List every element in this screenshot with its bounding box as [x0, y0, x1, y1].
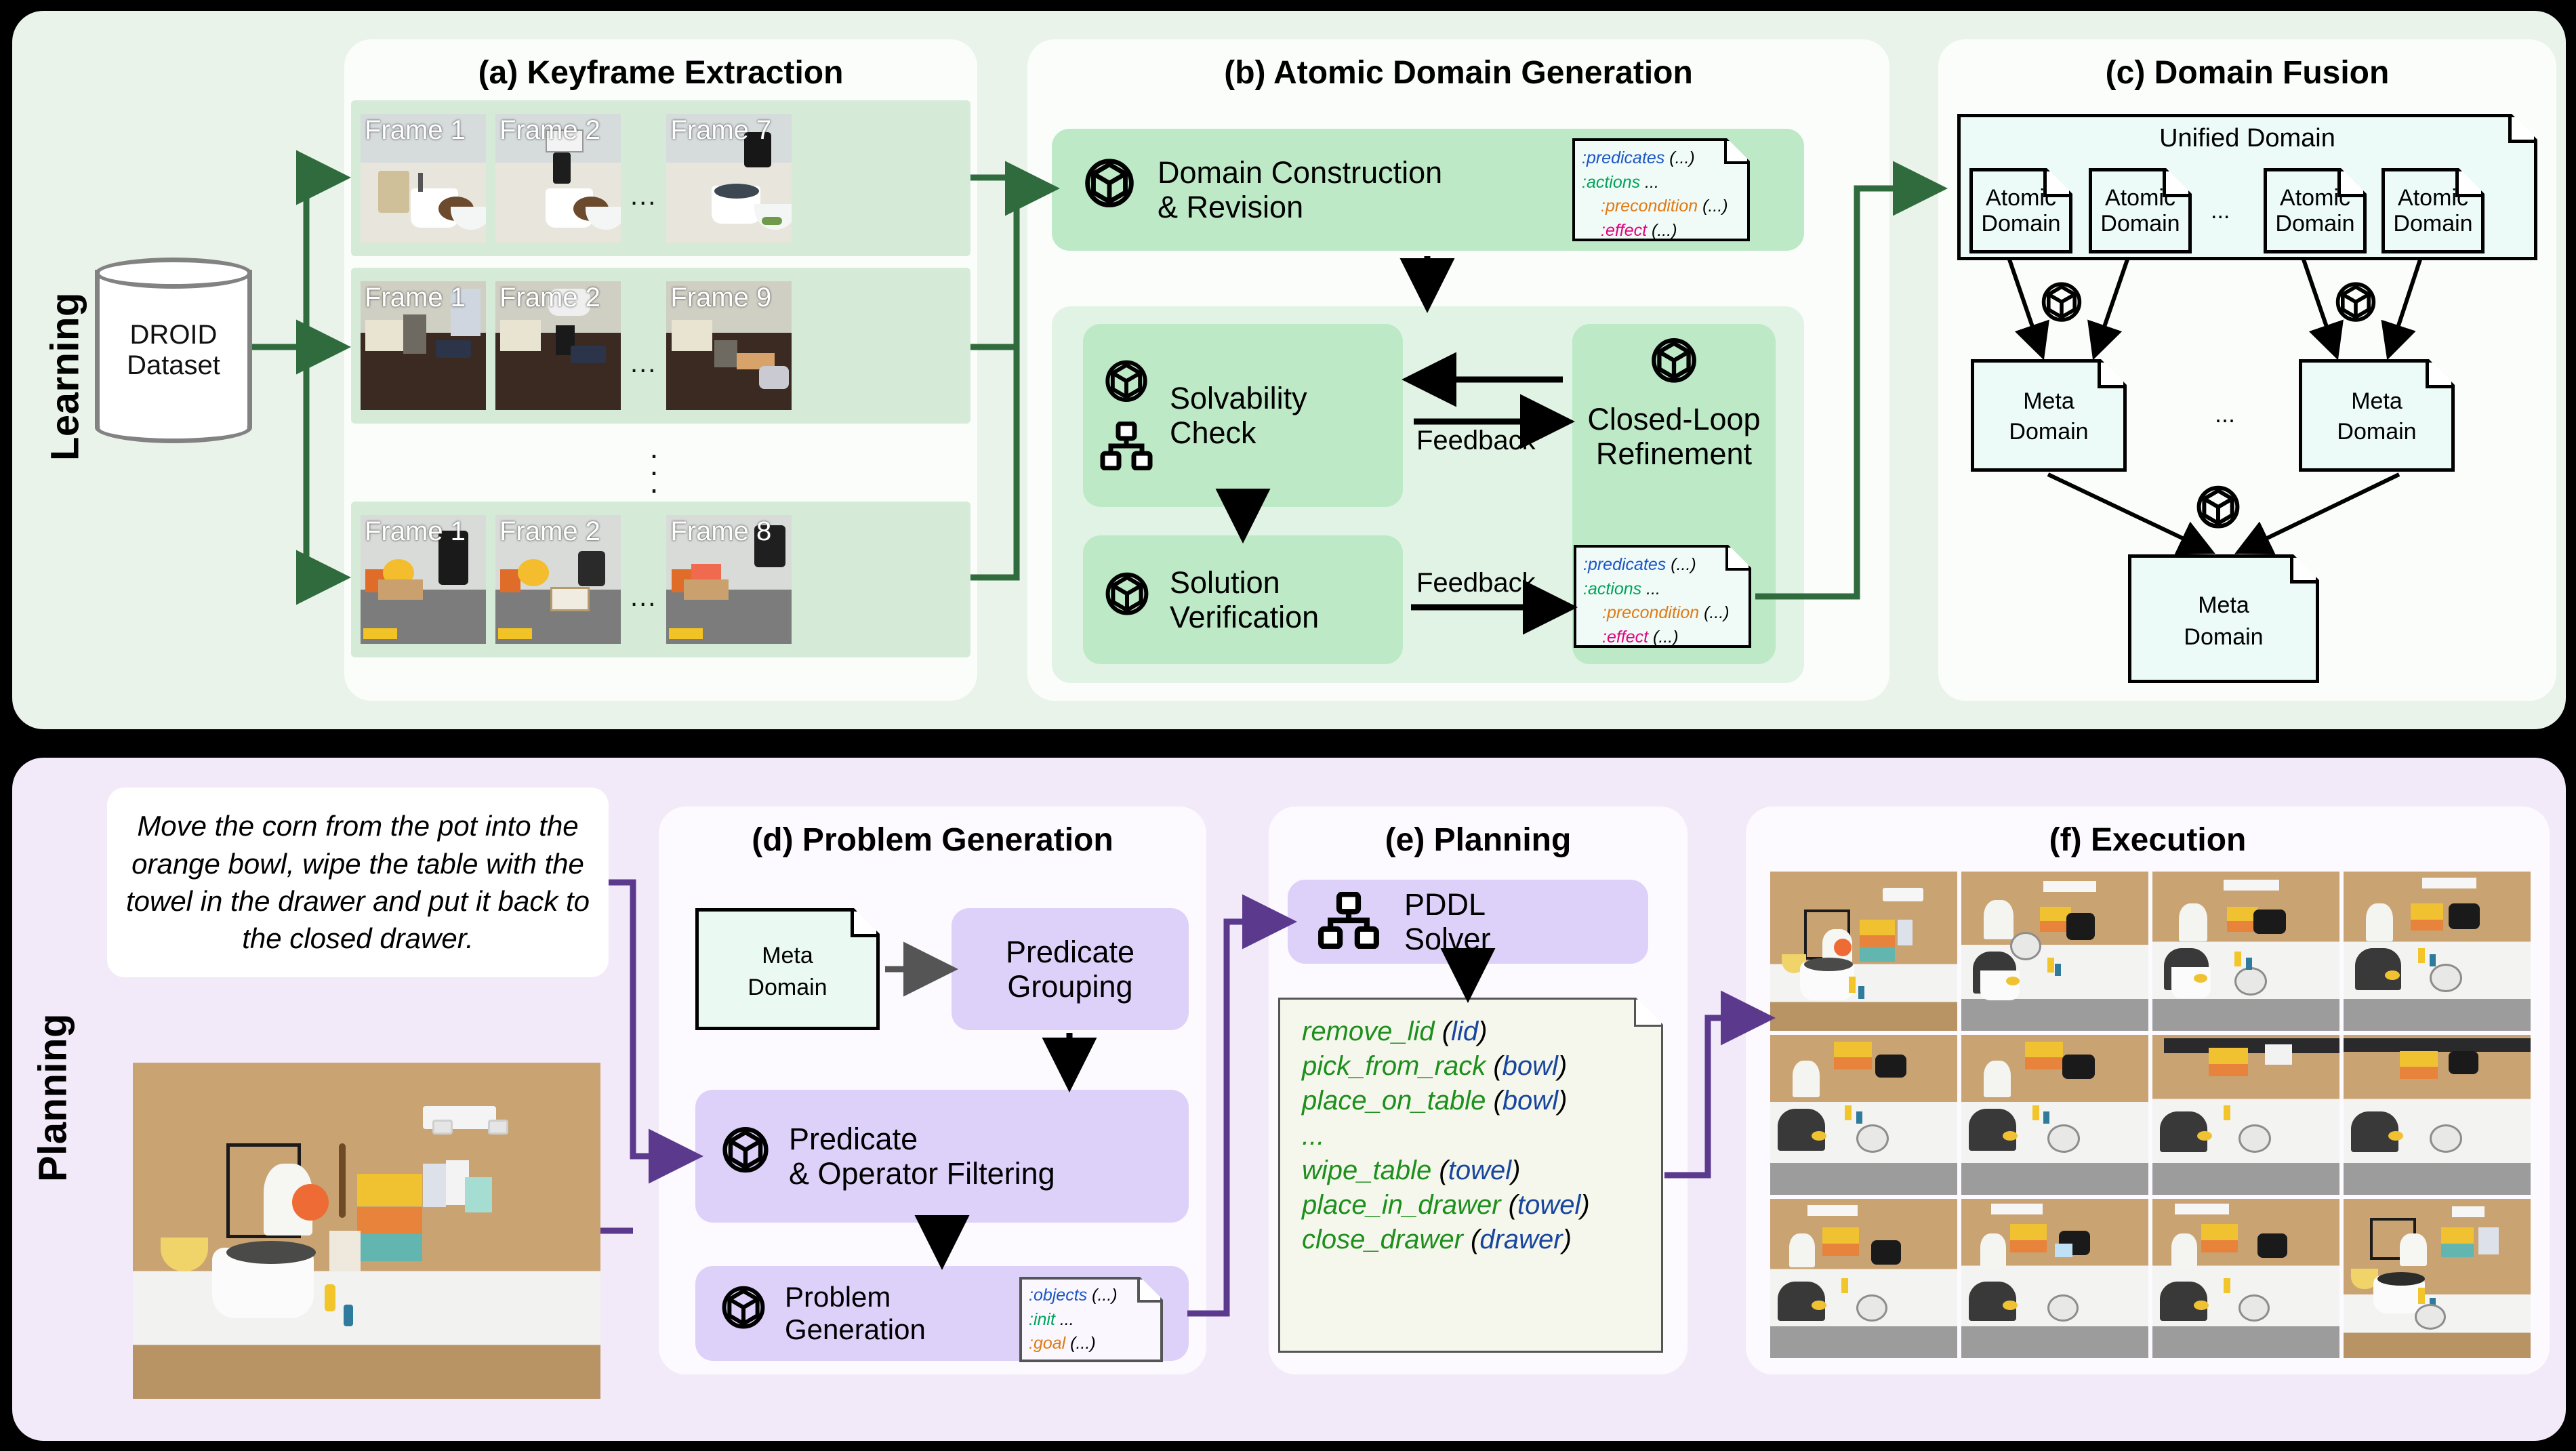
atomic-line2: Domain — [1981, 211, 2060, 237]
panel-b-title: (b) Atomic Domain Generation — [1027, 54, 1889, 91]
atomic-domain-doc: Atomic Domain — [2089, 168, 2192, 253]
meta-line2: Domain — [2184, 624, 2263, 650]
plan-step: place_in_drawer (towel) — [1302, 1188, 1590, 1223]
meta-line2: Domain — [2337, 419, 2416, 445]
plan-list: remove_lid (lid) pick_from_rack (bowl) p… — [1302, 1015, 1590, 1257]
meta-line1: Meta — [2351, 388, 2403, 414]
dataset-name-line2: Dataset — [95, 350, 252, 381]
note-line-precondition: :precondition (...) — [1582, 195, 1728, 219]
meta-domain-doc: Meta Domain — [2299, 359, 2455, 472]
note-line-effect: :effect (...) — [1582, 219, 1728, 243]
solution-verification-box[interactable]: Solution Verification — [1083, 535, 1403, 664]
openai-knot-icon — [714, 1124, 777, 1189]
problem-generation-line2: Generation — [785, 1313, 926, 1345]
closed-loop-label: Closed-Loop Refinement — [1587, 402, 1760, 472]
openai-knot-icon — [714, 1283, 773, 1345]
note-line-init: :init ... — [1029, 1308, 1118, 1332]
meta-domain-doc: Meta Domain — [1971, 359, 2127, 472]
note-line-predicates: :predicates (...) — [1582, 146, 1728, 171]
filtering-line2: & Operator Filtering — [789, 1156, 1055, 1191]
meta-line2: Domain — [748, 975, 827, 1000]
keyframe-caption: Frame 1 — [365, 283, 466, 313]
dataset-label: DROID Dataset — [95, 320, 252, 381]
atomic-domains-ellipsis: ... — [2211, 198, 2230, 224]
solvability-line2: Check — [1170, 415, 1256, 450]
keyframe-caption: Frame 2 — [499, 115, 600, 146]
domain-construction-label: Domain Construction & Revision — [1158, 155, 1442, 225]
note-line-effect: :effect (...) — [1583, 626, 1730, 650]
openai-knot-icon — [1098, 357, 1155, 417]
plan-step: place_on_table (bowl) — [1302, 1084, 1590, 1118]
solvability-check-label: Solvability Check — [1170, 381, 1307, 451]
openai-knot-icon — [1098, 569, 1156, 631]
feedback-label-bottom: Feedback — [1416, 568, 1536, 598]
openai-knot-icon — [1076, 155, 1143, 225]
keyframe-caption: Frame 9 — [670, 283, 771, 313]
problem-pddl-note: :objects (...) :init ... :goal (...) — [1019, 1277, 1163, 1362]
keyframe-thumb: Frame 8 — [666, 515, 792, 644]
atomic-line2: Domain — [2275, 211, 2354, 237]
pddl-solver-box[interactable]: PDDL Solver — [1288, 880, 1648, 964]
execution-frame — [1961, 1035, 2148, 1194]
plan-step-ellipsis: ... — [1302, 1119, 1590, 1153]
keyframe-rows-vertical-ellipsis: ... — [634, 439, 674, 491]
keyframe-gap-ellipsis: ... — [630, 181, 657, 211]
keyframe-thumb: Frame 1 — [361, 114, 486, 243]
keyframe-thumb: Frame 1 — [361, 515, 486, 644]
keyframe-caption: Frame 1 — [365, 516, 466, 547]
refinement-pddl-note: :predicates (...) :actions ... :precondi… — [1574, 545, 1751, 648]
panel-c-title: (c) Domain Fusion — [1938, 54, 2556, 91]
tree-nodes-icon — [1317, 892, 1380, 952]
keyframe-caption: Frame 1 — [365, 115, 466, 146]
dataset-name-line1: DROID — [95, 320, 252, 350]
solvability-line1: Solvability — [1170, 381, 1307, 415]
note-line-goal: :goal (...) — [1029, 1332, 1118, 1356]
filtering-line1: Predicate — [789, 1122, 918, 1156]
meta-line1: Meta — [2198, 592, 2249, 618]
meta-domains-ellipsis: ... — [2215, 400, 2235, 428]
predicate-operator-filtering-box[interactable]: Predicate & Operator Filtering — [695, 1090, 1189, 1223]
meta-line1: Meta — [2023, 388, 2074, 414]
keyframe-gap-ellipsis: ... — [630, 582, 657, 613]
solution-verification-label: Solution Verification — [1170, 565, 1319, 635]
predicate-grouping-label: Predicate Grouping — [1006, 935, 1134, 1004]
pddl-solver-line1: PDDL — [1404, 887, 1486, 922]
execution-frame — [1770, 1199, 1957, 1358]
plan-step: close_drawer (drawer) — [1302, 1223, 1590, 1257]
meta-domain-label: Meta Domain — [2009, 385, 2088, 446]
execution-frame — [2152, 1199, 2339, 1358]
note-line-objects: :objects (...) — [1029, 1284, 1118, 1308]
execution-frame — [2344, 872, 2531, 1031]
plan-output-note: remove_lid (lid) pick_from_rack (bowl) p… — [1278, 998, 1663, 1353]
solvability-check-box[interactable]: Solvability Check — [1083, 324, 1403, 507]
cylinder-top-ellipse — [95, 258, 252, 289]
pddl-solver-label: PDDL Solver — [1404, 887, 1491, 957]
problem-generation-label: Problem Generation — [785, 1281, 926, 1346]
keyframe-row-1: Frame 1 Frame 2 ... Frame 7 — [351, 100, 970, 256]
execution-frame — [1961, 1199, 2148, 1358]
solution-verification-line2: Verification — [1170, 600, 1319, 634]
execution-frame — [1770, 872, 1957, 1031]
closed-loop-line2: Refinement — [1596, 436, 1752, 471]
predicate-grouping-box[interactable]: Predicate Grouping — [952, 908, 1189, 1030]
openai-knot-icon — [2189, 483, 2247, 544]
meta-domain-input-doc: Meta Domain — [695, 908, 880, 1030]
problem-generation-line1: Problem — [785, 1281, 891, 1313]
panel-f-title: (f) Execution — [1746, 821, 2550, 859]
execution-frame — [2344, 1035, 2531, 1194]
meta-line2: Domain — [2009, 419, 2088, 445]
keyframe-caption: Frame 2 — [499, 283, 600, 313]
execution-frame — [1770, 1035, 1957, 1194]
droid-dataset-cylinder: DROID Dataset — [95, 258, 252, 441]
scene-photo — [133, 1063, 600, 1399]
planning-stage-label: Planning — [27, 956, 79, 1240]
execution-frame — [1961, 872, 2148, 1031]
closed-loop-line1: Closed-Loop — [1587, 402, 1760, 436]
filtering-label: Predicate & Operator Filtering — [789, 1122, 1055, 1191]
atomic-domain-doc: Atomic Domain — [2381, 168, 2485, 253]
domain-note-code: :predicates (...) :actions ... :precondi… — [1582, 146, 1728, 243]
openai-knot-icon — [1643, 335, 1704, 399]
atomic-domain-doc: Atomic Domain — [2264, 168, 2367, 253]
problem-note-code: :objects (...) :init ... :goal (...) — [1029, 1284, 1118, 1356]
meta-domain-final-doc: Meta Domain — [2128, 554, 2319, 683]
keyframe-caption: Frame 8 — [670, 516, 771, 547]
note-line-actions: :actions ... — [1582, 171, 1728, 195]
execution-grid — [1770, 872, 2531, 1358]
meta-domain-label: Meta Domain — [2337, 385, 2416, 446]
execution-frame — [2152, 872, 2339, 1031]
keyframe-thumb: Frame 9 — [666, 281, 792, 410]
domain-pddl-note: :predicates (...) :actions ... :precondi… — [1572, 138, 1750, 241]
tree-nodes-icon — [1100, 422, 1153, 474]
figure-canvas: Learning DROID Dataset (a) Keyframe Extr… — [0, 0, 2576, 1451]
solution-verification-line1: Solution — [1170, 565, 1280, 600]
meta-domain-label: Meta Domain — [2184, 587, 2263, 651]
atomic-line2: Domain — [2393, 211, 2472, 237]
solvability-icon-stack — [1098, 357, 1155, 474]
keyframe-row-3: Frame 1 Frame 2 ... Frame 8 — [351, 502, 970, 657]
learning-stage-label: Learning — [39, 234, 91, 519]
openai-knot-icon — [2329, 279, 2383, 337]
predicate-grouping-line2: Grouping — [1007, 969, 1132, 1004]
plan-step: wipe_table (towel) — [1302, 1153, 1590, 1188]
task-instruction-card: Move the corn from the pot into the oran… — [107, 788, 609, 977]
panel-d-title: (d) Problem Generation — [659, 821, 1206, 859]
note-line-precondition: :precondition (...) — [1583, 601, 1730, 626]
predicate-grouping-line1: Predicate — [1006, 935, 1134, 969]
refinement-note-code: :predicates (...) :actions ... :precondi… — [1583, 553, 1730, 649]
keyframe-thumb: Frame 2 — [495, 515, 621, 644]
domain-construction-line2: & Revision — [1158, 190, 1303, 224]
plan-step: remove_lid (lid) — [1302, 1015, 1590, 1049]
keyframe-row-2: Frame 1 Frame 2 ... Frame 9 — [351, 268, 970, 424]
meta-domain-label: Meta Domain — [748, 937, 827, 1001]
keyframe-thumb: Frame 7 — [666, 114, 792, 243]
keyframe-thumb: Frame 1 — [361, 281, 486, 410]
note-line-actions: :actions ... — [1583, 577, 1730, 602]
domain-construction-line1: Domain Construction — [1158, 155, 1442, 190]
keyframe-thumb: Frame 2 — [495, 281, 621, 410]
keyframe-caption: Frame 2 — [499, 516, 600, 547]
panel-a-title: (a) Keyframe Extraction — [344, 54, 977, 91]
feedback-label-top: Feedback — [1416, 426, 1536, 456]
unified-domain-title: Unified Domain — [1961, 124, 2534, 153]
execution-frame — [2344, 1199, 2531, 1358]
meta-line1: Meta — [762, 943, 813, 968]
keyframe-caption: Frame 7 — [670, 115, 771, 146]
atomic-domain-doc: Atomic Domain — [1969, 168, 2072, 253]
plan-step: pick_from_rack (bowl) — [1302, 1049, 1590, 1084]
keyframe-gap-ellipsis: ... — [630, 348, 657, 379]
panel-e-title: (e) Planning — [1269, 821, 1688, 859]
execution-frame — [2152, 1035, 2339, 1194]
task-instruction-text: Move the corn from the pot into the oran… — [107, 807, 609, 958]
openai-knot-icon — [2035, 279, 2089, 337]
keyframe-thumb: Frame 2 — [495, 114, 621, 243]
note-line-predicates: :predicates (...) — [1583, 553, 1730, 577]
atomic-line2: Domain — [2100, 211, 2180, 237]
pddl-solver-line2: Solver — [1404, 922, 1491, 956]
